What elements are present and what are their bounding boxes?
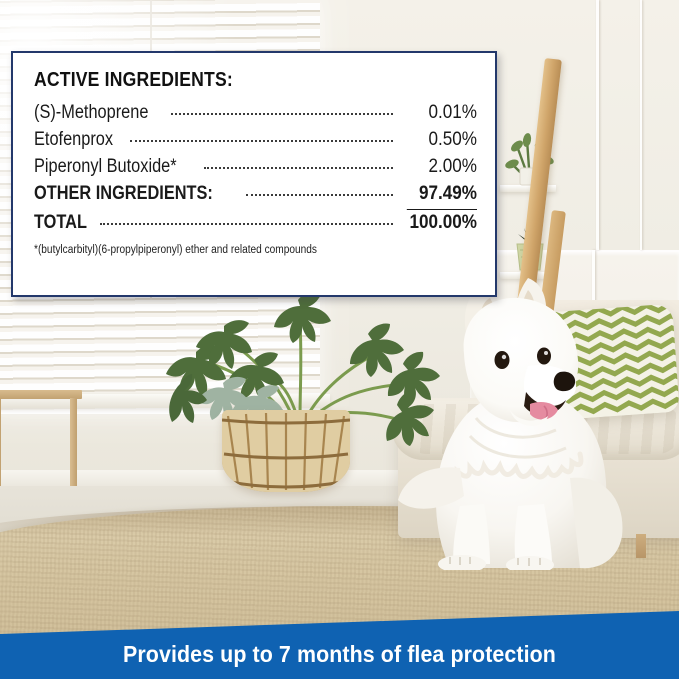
- samoyed-dog: [398, 268, 679, 570]
- wall-moulding-line: [640, 0, 642, 250]
- panel-title: ACTIVE INGREDIENTS:: [34, 69, 424, 92]
- product-image: ACTIVE INGREDIENTS: (S)-Methoprene 0.01%…: [0, 0, 679, 679]
- wall-moulding-line: [596, 0, 599, 250]
- ingredient-percent: 100.00%: [407, 210, 477, 237]
- ingredient-row: (S)-Methoprene 0.01%: [34, 100, 477, 127]
- ingredient-percent: 2.00%: [407, 154, 477, 181]
- other-ingredients-row: OTHER INGREDIENTS: 97.49%: [34, 181, 477, 210]
- ingredient-name: TOTAL: [34, 210, 87, 237]
- ingredient-name: Piperonyl Butoxide*: [34, 154, 177, 181]
- wall-shelf: [500, 185, 556, 192]
- ingredient-row: Piperonyl Butoxide* 2.00%: [34, 154, 477, 181]
- total-row: TOTAL 100.00%: [34, 210, 477, 237]
- leader-dots: [246, 194, 393, 196]
- leader-dots: [204, 167, 393, 169]
- panel-footnote: *(butylcarbityl)(6-propylpiperonyl) ethe…: [34, 244, 424, 256]
- leader-dots: [171, 113, 393, 115]
- banner-text: Provides up to 7 months of flea protecti…: [24, 641, 655, 668]
- ingredient-name: OTHER INGREDIENTS:: [34, 181, 213, 208]
- ingredient-percent: 0.01%: [407, 100, 477, 127]
- ingredient-row: Etofenprox 0.50%: [34, 127, 477, 154]
- active-ingredients-panel: ACTIVE INGREDIENTS: (S)-Methoprene 0.01%…: [11, 51, 497, 297]
- ingredient-name: (S)-Methoprene: [34, 100, 148, 127]
- leader-dots: [130, 140, 393, 142]
- ingredient-percent: 0.50%: [407, 127, 477, 154]
- rattan-basket: [222, 410, 350, 492]
- leader-dots: [100, 223, 393, 225]
- ingredient-rows: (S)-Methoprene 0.01% Etofenprox 0.50% Pi…: [34, 100, 477, 237]
- ingredient-name: Etofenprox: [34, 127, 113, 154]
- ingredient-percent: 97.49%: [407, 181, 477, 210]
